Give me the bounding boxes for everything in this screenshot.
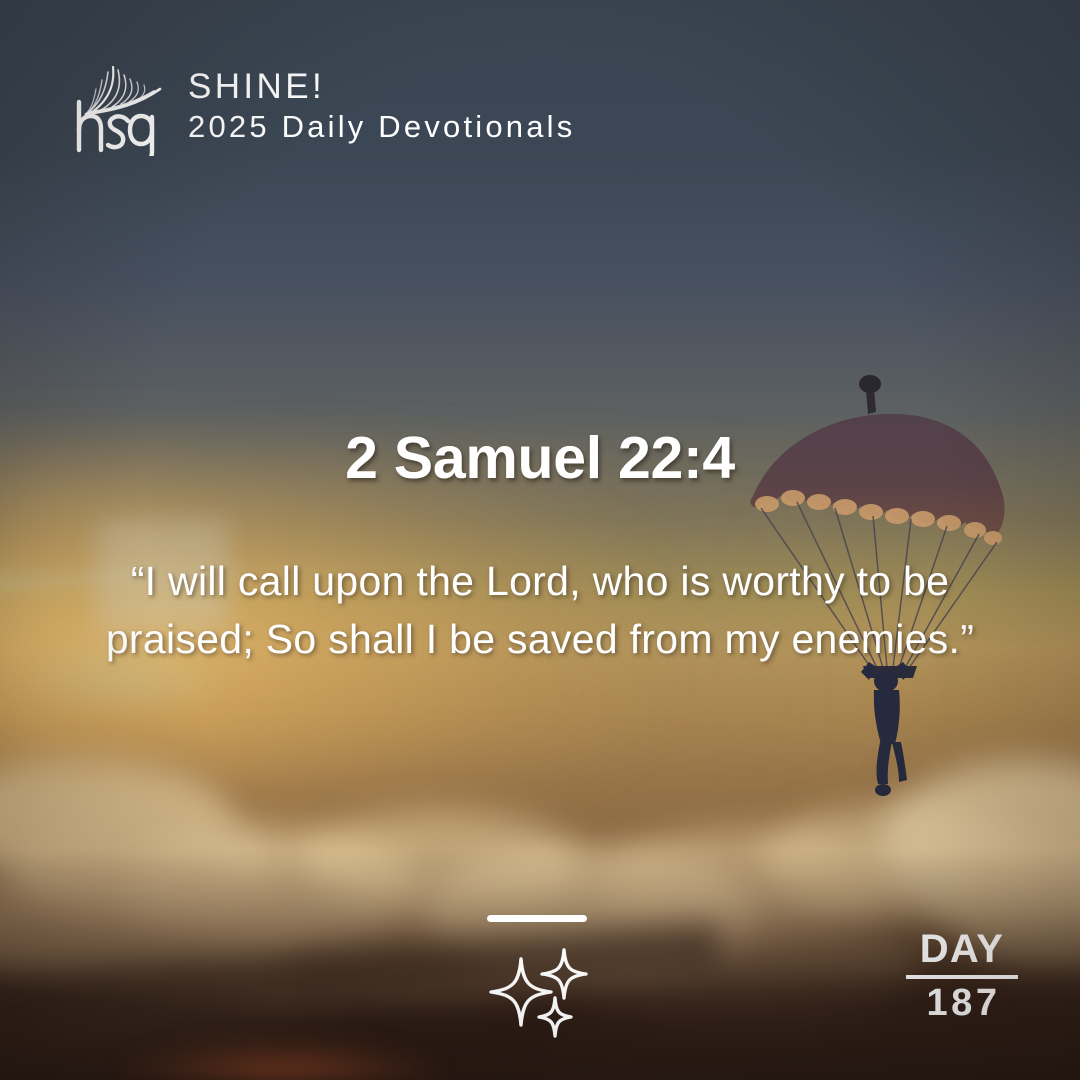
day-divider [906,975,1018,979]
day-badge: DAY 187 [906,928,1018,1025]
divider-bar [487,915,587,922]
verse-reference: 2 Samuel 22:4 [0,424,1080,492]
day-number: 187 [924,983,1001,1025]
brand-header: SHINE! 2025 Daily Devotionals [68,58,575,156]
page-title: SHINE! [188,69,575,104]
verse-text: “I will call upon the Lord, who is worth… [92,552,988,668]
hsg-swoosh-logo-icon [68,58,164,156]
verse-line-2: praised; So shall I be saved from my ene… [92,610,988,668]
verse-line-1: “I will call upon the Lord, who is worth… [92,552,988,610]
day-label: DAY [920,928,1004,970]
devotional-graphic: SHINE! 2025 Daily Devotionals 2 Samuel 2… [0,0,1080,1080]
sparkle-stars-icon [487,915,593,1040]
horizon-ember-glow [120,1036,440,1080]
page-subtitle: 2025 Daily Devotionals [188,111,575,142]
